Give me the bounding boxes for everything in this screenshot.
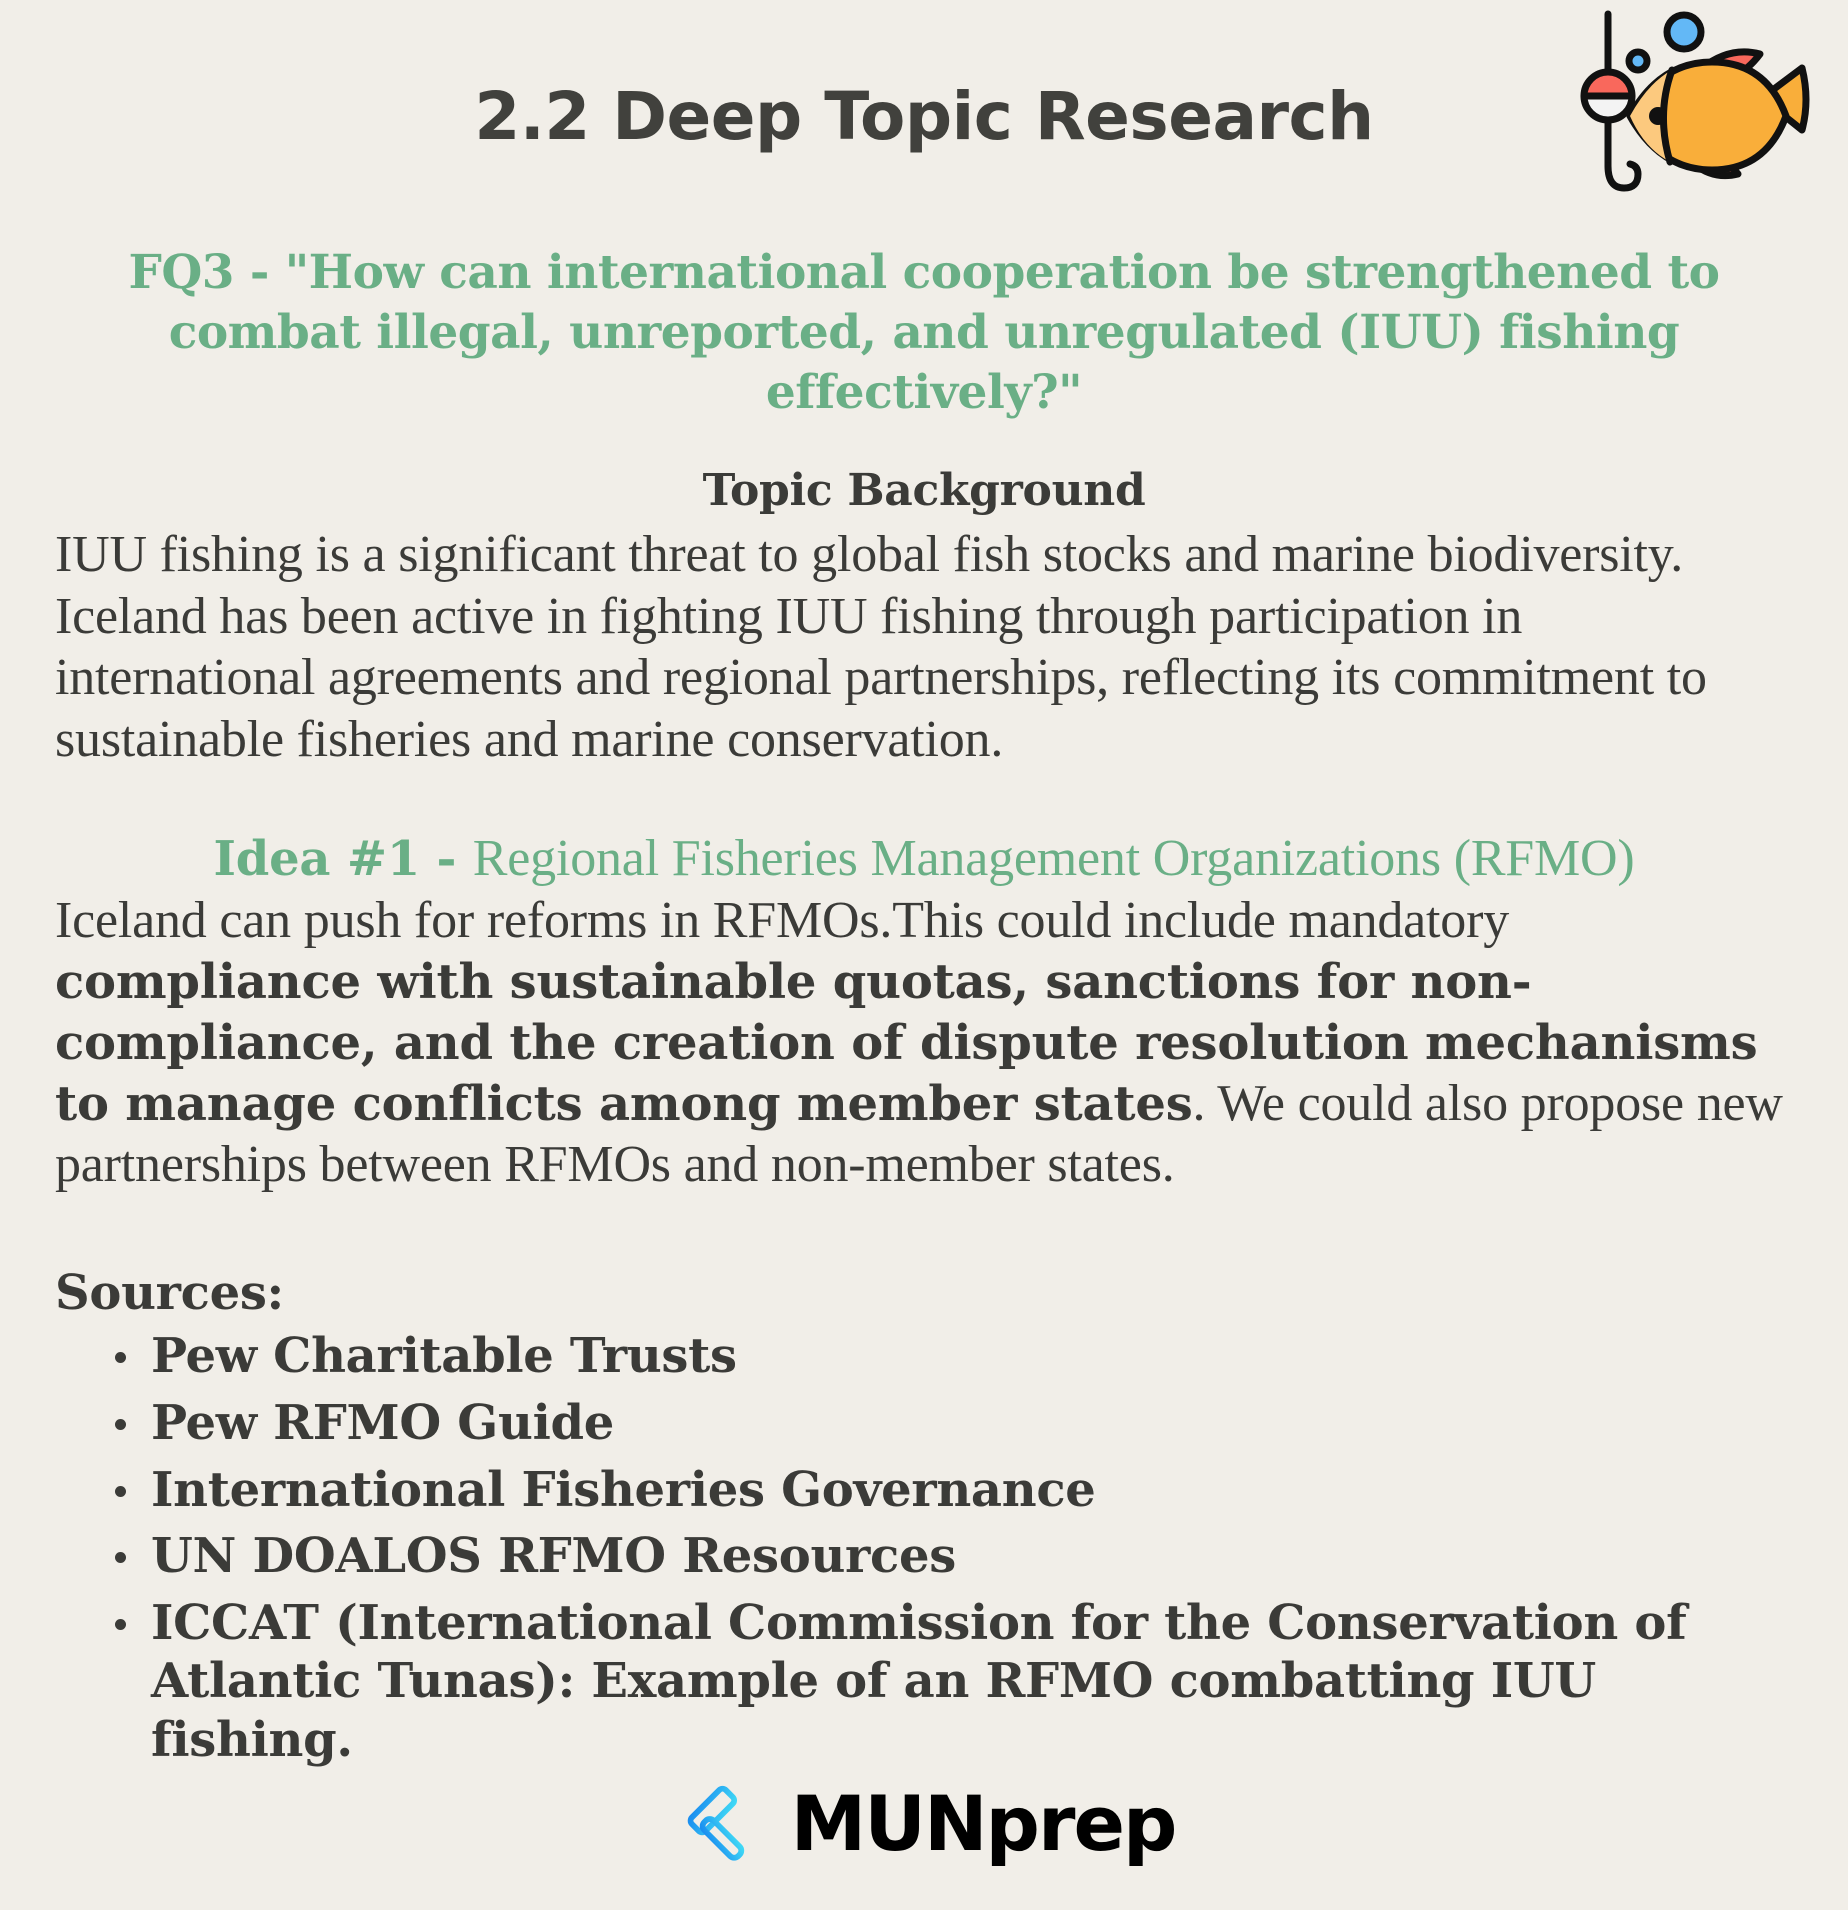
- gavel-icon: [673, 1776, 769, 1872]
- idea-heading: Idea #1 - Regional Fisheries Management …: [55, 828, 1793, 889]
- list-item: UN DOALOS RFMO Resources: [113, 1527, 1793, 1586]
- idea-body-lead: Iceland can push for reforms in RFMOs.Th…: [55, 892, 1509, 949]
- topic-background-body: IUU fishing is a significant threat to g…: [55, 524, 1793, 769]
- footer-branding: MUNprep: [0, 1776, 1848, 1872]
- slide-page: 2.2 Deep Topic Research: [0, 0, 1848, 1910]
- idea-label: Idea #1 -: [213, 831, 472, 887]
- list-item: International Fisheries Governance: [113, 1461, 1793, 1520]
- page-title: 2.2 Deep Topic Research: [474, 60, 1373, 155]
- fish-with-hook-icon: [1566, 6, 1826, 206]
- list-item: Pew RFMO Guide: [113, 1394, 1793, 1453]
- brand-name: MUNprep: [791, 1786, 1176, 1862]
- list-item: Pew Charitable Trusts: [113, 1327, 1793, 1386]
- sources-label: Sources:: [55, 1265, 1793, 1321]
- sources-list: Pew Charitable Trusts Pew RFMO Guide Int…: [55, 1327, 1793, 1769]
- idea-body: Iceland can push for reforms in RFMOs.Th…: [55, 891, 1793, 1195]
- topic-background-heading: Topic Background: [0, 465, 1848, 516]
- list-item: ICCAT (International Commission for the …: [113, 1594, 1793, 1770]
- header: 2.2 Deep Topic Research: [0, 0, 1848, 215]
- topic-background-paragraph-1: IUU fishing is a significant threat to g…: [55, 524, 1793, 585]
- idea-title: Regional Fisheries Management Organizati…: [473, 830, 1635, 887]
- topic-background-paragraph-2: Iceland has been active in fighting IUU …: [55, 586, 1793, 770]
- focus-question: FQ3 - "How can international cooperation…: [90, 243, 1758, 423]
